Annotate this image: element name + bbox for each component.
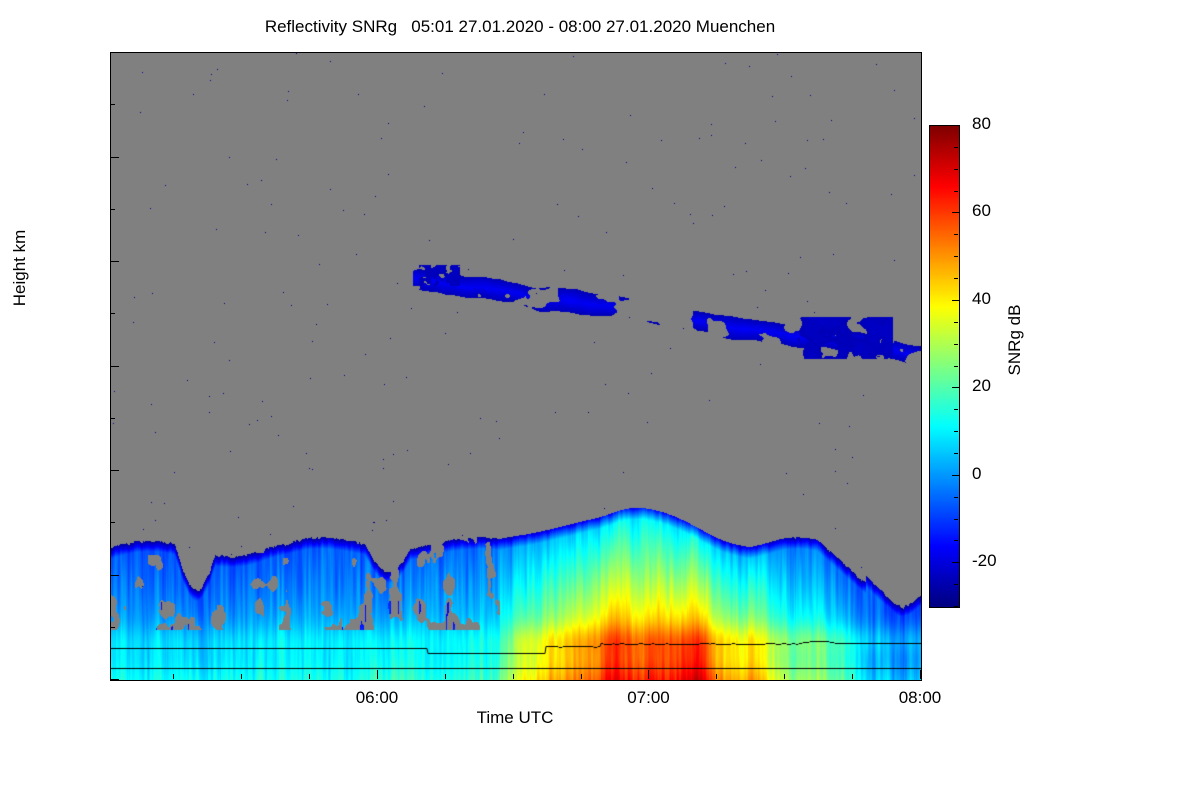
colorbar-tick-mark	[952, 387, 959, 388]
y-minor-tick-mark	[110, 104, 115, 105]
colorbar-tick-mark	[952, 125, 959, 126]
radar-quicklook-figure: Reflectivity SNRg 05:01 27.01.2020 - 08:…	[0, 0, 1200, 800]
colorbar-minor-tick-mark	[954, 147, 958, 148]
y-minor-tick-mark	[110, 418, 115, 419]
y-minor-tick-mark	[110, 522, 115, 523]
y-tick-mark	[110, 261, 119, 262]
colorbar-tick-label: 60	[972, 201, 1032, 221]
colorbar-tick-label: -20	[972, 551, 1032, 571]
y-minor-tick-mark	[110, 209, 115, 210]
x-tick-label: 08:00	[875, 688, 965, 708]
colorbar-minor-tick-mark	[954, 453, 958, 454]
colorbar-tick-mark	[952, 300, 959, 301]
y-axis-title: Height km	[10, 208, 30, 328]
colorbar-minor-tick-mark	[954, 234, 958, 235]
y-tick-mark	[110, 366, 119, 367]
page-title: Reflectivity SNRg 05:01 27.01.2020 - 08:…	[0, 17, 1040, 37]
colorbar-minor-tick-mark	[954, 344, 958, 345]
x-minor-tick-mark	[852, 674, 853, 679]
x-minor-tick-mark	[309, 674, 310, 679]
y-tick-mark	[110, 679, 119, 680]
colorbar-minor-tick-mark	[954, 606, 958, 607]
colorbar-minor-tick-mark	[954, 497, 958, 498]
x-minor-tick-mark	[581, 674, 582, 679]
colorbar-tick-label: 80	[972, 114, 1032, 134]
colorbar-minor-tick-mark	[954, 191, 958, 192]
colorbar-gradient	[930, 126, 959, 607]
colorbar-minor-tick-mark	[954, 322, 958, 323]
colorbar-minor-tick-mark	[954, 584, 958, 585]
reflectivity-heatmap-axes	[110, 52, 922, 681]
y-tick-mark	[110, 52, 119, 53]
x-tick-mark	[920, 670, 921, 679]
x-tick-mark	[377, 670, 378, 679]
colorbar-minor-tick-mark	[954, 366, 958, 367]
x-tick-label: 06:00	[332, 688, 422, 708]
colorbar-tick-mark	[952, 475, 959, 476]
y-tick-mark	[110, 575, 119, 576]
x-minor-tick-mark	[241, 674, 242, 679]
colorbar	[929, 125, 960, 608]
y-tick-mark	[110, 470, 119, 471]
x-minor-tick-mark	[513, 674, 514, 679]
colorbar-tick-label: 0	[972, 464, 1032, 484]
colorbar-minor-tick-mark	[954, 169, 958, 170]
colorbar-tick-mark	[952, 212, 959, 213]
colorbar-minor-tick-mark	[954, 540, 958, 541]
x-tick-label: 07:00	[603, 688, 693, 708]
y-minor-tick-mark	[110, 627, 115, 628]
x-tick-mark	[648, 670, 649, 679]
colorbar-tick-mark	[952, 562, 959, 563]
colorbar-minor-tick-mark	[954, 519, 958, 520]
colorbar-minor-tick-mark	[954, 278, 958, 279]
x-axis-title: Time UTC	[110, 708, 920, 728]
x-minor-tick-mark	[784, 674, 785, 679]
colorbar-minor-tick-mark	[954, 431, 958, 432]
reflectivity-heatmap-canvas	[111, 53, 921, 680]
colorbar-minor-tick-mark	[954, 409, 958, 410]
x-minor-tick-mark	[173, 674, 174, 679]
y-tick-mark	[110, 157, 119, 158]
colorbar-title: SNRg dB	[1005, 280, 1025, 400]
colorbar-minor-tick-mark	[954, 256, 958, 257]
y-minor-tick-mark	[110, 313, 115, 314]
x-minor-tick-mark	[716, 674, 717, 679]
x-minor-tick-mark	[445, 674, 446, 679]
